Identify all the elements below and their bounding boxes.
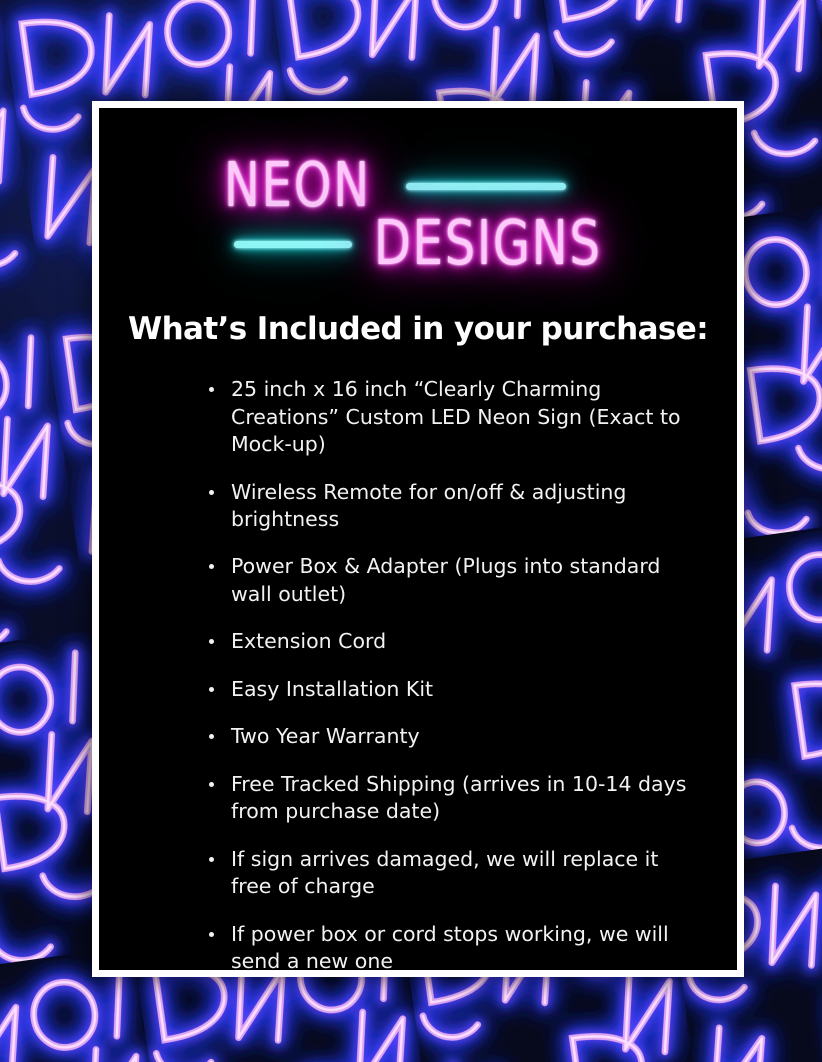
- list-item: Wireless Remote for on/off & adjusting b…: [207, 479, 691, 534]
- poster-page: NEON DESIGNS What’s Included in your pur…: [0, 0, 822, 1062]
- list-item: Two Year Warranty: [207, 723, 691, 750]
- logo-word-neon: NEON: [224, 151, 371, 222]
- logo-row-top: NEON: [224, 156, 566, 216]
- content-card: NEON DESIGNS What’s Included in your pur…: [92, 101, 744, 977]
- neon-designs-logo: NEON DESIGNS: [208, 148, 628, 298]
- logo-word-designs: DESIGNS: [374, 209, 602, 280]
- included-items-list: 25 inch x 16 inch “Clearly Charming Crea…: [99, 376, 737, 976]
- list-item: Free Tracked Shipping (arrives in 10-14 …: [207, 771, 691, 826]
- cyan-bar-top-icon: [406, 183, 566, 190]
- page-title: What’s Included in your purchase:: [119, 312, 717, 346]
- cyan-bar-bottom-icon: [234, 241, 352, 248]
- list-item: If power box or cord stops working, we w…: [207, 921, 691, 976]
- list-item: If sign arrives damaged, we will replace…: [207, 846, 691, 901]
- list-item: Easy Installation Kit: [207, 676, 691, 703]
- logo-row-bottom: DESIGNS: [234, 214, 621, 274]
- list-item: 25 inch x 16 inch “Clearly Charming Crea…: [207, 376, 691, 458]
- list-item: Power Box & Adapter (Plugs into standard…: [207, 553, 691, 608]
- list-item: Extension Cord: [207, 628, 691, 655]
